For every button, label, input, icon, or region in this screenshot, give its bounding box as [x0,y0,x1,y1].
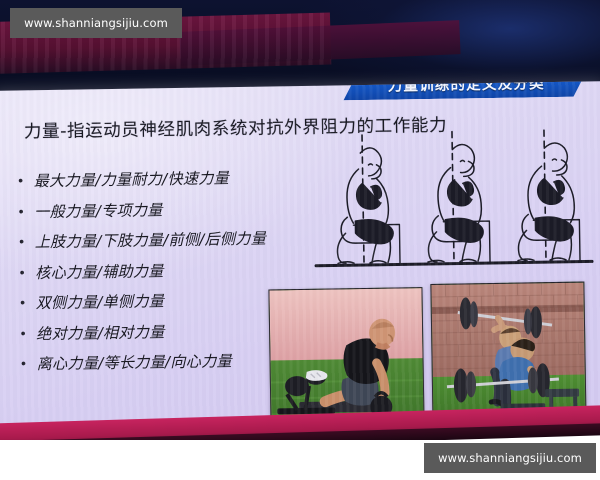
bullet-marker-icon: • [17,172,25,191]
projected-slide: 力量训练的定义及分类 力量-指运动员神经肌肉系统对抗外界阻力的工作能力 • 最大… [0,81,600,443]
bullet-marker-icon: • [19,355,27,374]
list-item-label: 双侧力量/单侧力量 [35,292,164,313]
list-item-label: 核心力量/辅助力量 [35,262,164,283]
bullet-marker-icon: • [18,264,26,283]
list-item-label: 最大力量/力量耐力/快速力量 [34,169,230,191]
slide-title-banner: 力量训练的定义及分类 [343,81,589,100]
squat-progression-diagram [308,117,596,273]
list-item-label: 离心力量/等长力量/向心力量 [36,352,232,374]
list-item-label: 绝对力量/相对力量 [36,323,165,344]
bullet-marker-icon: • [17,203,25,222]
squat-figures-svg [308,117,596,273]
list-item-label: 一般力量/专项力量 [34,201,163,222]
projector-room-photo: 力量训练的定义及分类 力量-指运动员神经肌肉系统对抗外界阻力的工作能力 • 最大… [0,0,600,480]
nordic-hamstring-kettlebell-photo [268,287,424,431]
list-item: • 上肢力量/下肢力量/前侧/后侧力量 [18,229,318,253]
list-item: • 最大力量/力量耐力/快速力量 [17,168,317,192]
watermark-text: www.shanniangsijiu.com [438,451,582,465]
watermark-bottom-right: www.shanniangsijiu.com [424,443,596,473]
watermark-top-left: www.shanniangsijiu.com [10,8,182,38]
slide-title-text: 力量训练的定义及分类 [388,81,545,95]
bullet-marker-icon: • [18,294,26,313]
watermark-text: www.shanniangsijiu.com [24,16,168,30]
list-item: • 一般力量/专项力量 [17,198,317,222]
list-item-label: 上肢力量/下肢力量/前侧/后侧力量 [35,230,267,253]
list-item: • 核心力量/辅助力量 [18,259,318,283]
bullet-marker-icon: • [19,325,27,344]
bullet-marker-icon: • [18,233,26,252]
